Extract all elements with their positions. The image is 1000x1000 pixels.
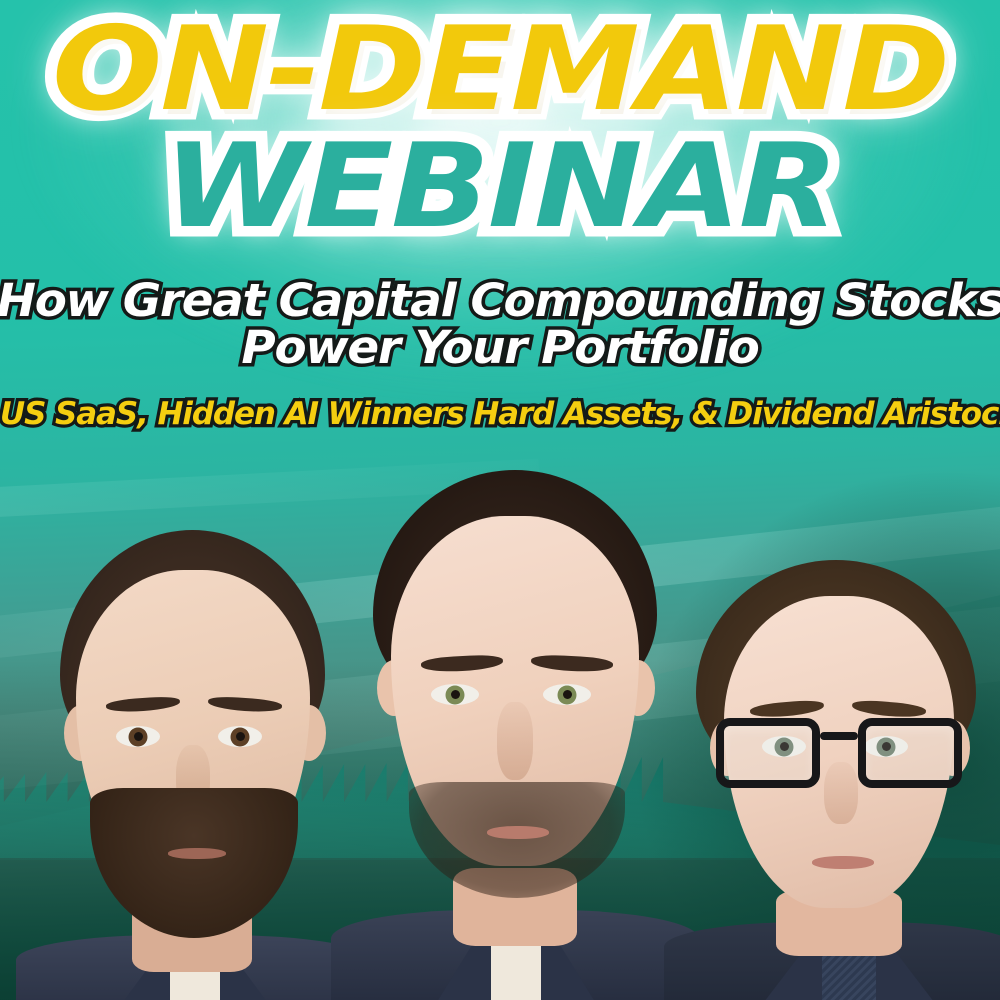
speaker-left-mouth xyxy=(168,848,226,859)
speaker-photo-center xyxy=(345,470,685,1000)
eyeglasses-icon xyxy=(716,718,962,792)
pupil-icon xyxy=(134,732,143,741)
pupil-icon xyxy=(236,732,245,741)
eyeglass-lens-left xyxy=(716,718,820,788)
speaker-center-stubble xyxy=(409,782,625,898)
speaker-center-mouth xyxy=(487,826,549,839)
speaker-photo-right xyxy=(680,560,998,1000)
eyeglass-bridge xyxy=(820,732,858,740)
pupil-icon xyxy=(451,690,460,699)
speaker-photo-left xyxy=(28,530,358,1000)
eyeglass-lens-right xyxy=(858,718,962,788)
speaker-center-nose xyxy=(497,702,533,780)
iris-icon xyxy=(558,685,577,704)
speaker-right-head xyxy=(680,560,998,1000)
speaker-center-head xyxy=(345,470,685,1000)
iris-icon xyxy=(231,727,250,746)
speaker-headshots xyxy=(0,0,1000,1000)
speaker-left-eye-left xyxy=(116,726,160,747)
speaker-center-eye-left xyxy=(431,684,479,705)
iris-icon xyxy=(446,685,465,704)
speaker-center-eye-right xyxy=(543,684,591,705)
webinar-promo-poster: ON-DEMAND WEBINAR How Great Capital Comp… xyxy=(0,0,1000,1000)
speaker-right-mouth xyxy=(812,856,874,869)
iris-icon xyxy=(129,727,148,746)
speaker-left-eye-right xyxy=(218,726,262,747)
pupil-icon xyxy=(563,690,572,699)
speaker-left-beard xyxy=(90,788,298,938)
speaker-left-head xyxy=(28,530,358,1000)
